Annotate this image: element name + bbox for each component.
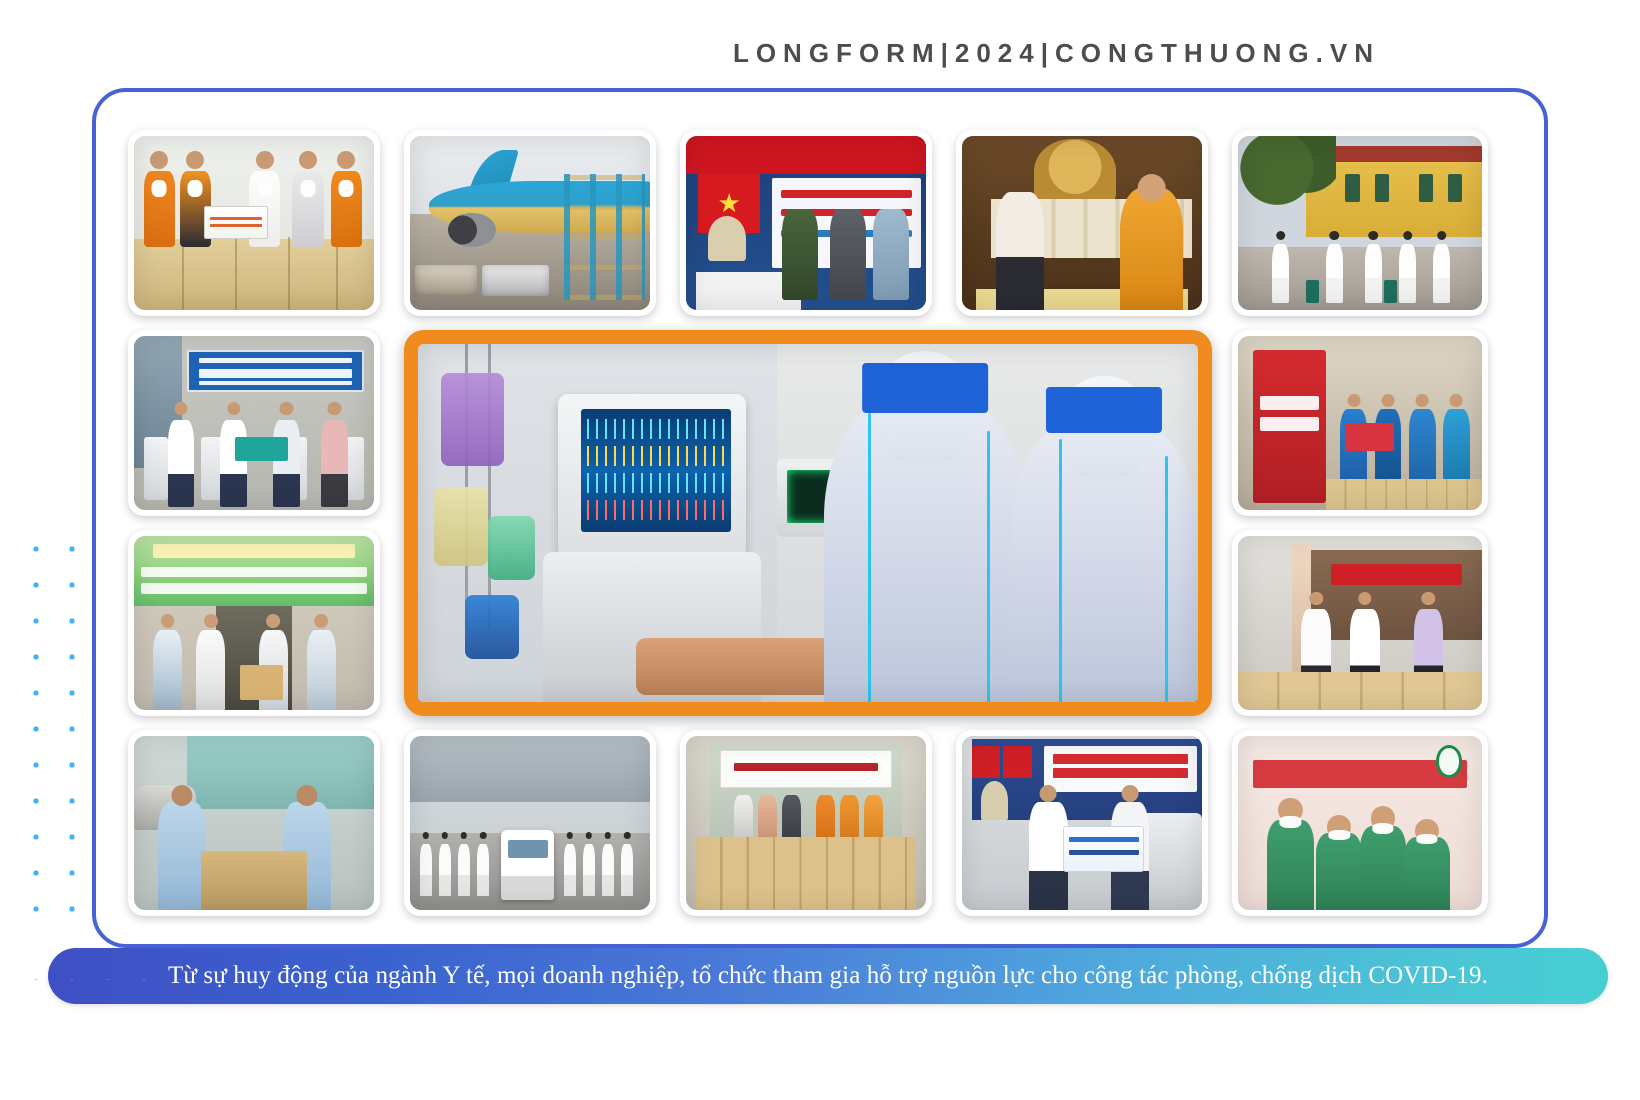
photo-thumbnail <box>1238 336 1482 510</box>
photo-thumbnail: ★ <box>686 136 926 310</box>
photo-an-binh-hospital-sign[interactable] <box>128 330 380 516</box>
photo-icu-ventilator[interactable] <box>404 330 1212 716</box>
photo-thumbnail <box>410 136 650 310</box>
photo-thumbnail <box>1238 536 1482 710</box>
photo-ambulance-convoy[interactable] <box>404 730 656 916</box>
photo-vietnam-airlines-cargo[interactable] <box>404 130 656 316</box>
photo-check-6500000000[interactable] <box>956 730 1208 916</box>
photo-bach-mai-students[interactable] <box>1232 730 1488 916</box>
photo-thumbnail <box>962 736 1202 910</box>
photo-thumbnail <box>1238 736 1482 910</box>
photo-blue-coat-carry-box[interactable] <box>128 730 380 916</box>
photo-thumbnail <box>1238 136 1482 310</box>
photo-thumbnail <box>410 736 650 910</box>
photo-donation-handover-orange[interactable] <box>128 130 380 316</box>
photo-ubnd-quan-3-supplies[interactable] <box>680 730 932 916</box>
caption-text: Từ sự huy động của ngành Y tế, mọi doanh… <box>168 962 1488 990</box>
photo-thumbnail <box>134 736 374 910</box>
brand-header: LONGFORM|2024|CONGTHUONG.VN <box>733 38 1380 69</box>
photo-thumbnail-hero <box>418 344 1198 702</box>
longform-page: LONGFORM|2024|CONGTHUONG.VN <box>0 0 1640 1100</box>
photo-collage-frame: ★ <box>92 88 1548 948</box>
photo-grid: ★ <box>96 92 1544 944</box>
photo-tiep-suc-viet-nam[interactable] <box>1232 330 1488 516</box>
photo-pagoda-monk-donation[interactable] <box>956 130 1208 316</box>
photo-thumbnail <box>134 336 374 510</box>
photo-thumbnail <box>686 736 926 910</box>
caption-bar: Từ sự huy động của ngành Y tế, mọi doanh… <box>48 948 1608 1004</box>
photo-thumbnail <box>134 136 374 310</box>
photo-ubnd-handshake[interactable] <box>1232 530 1488 716</box>
photo-thumbnail <box>962 136 1202 310</box>
photo-medical-staff-departure[interactable] <box>1232 130 1488 316</box>
photo-thumbnail <box>134 536 374 710</box>
photo-nhi-dong-2-banner[interactable] <box>128 530 380 716</box>
photo-ceremony-military-award[interactable]: ★ <box>680 130 932 316</box>
